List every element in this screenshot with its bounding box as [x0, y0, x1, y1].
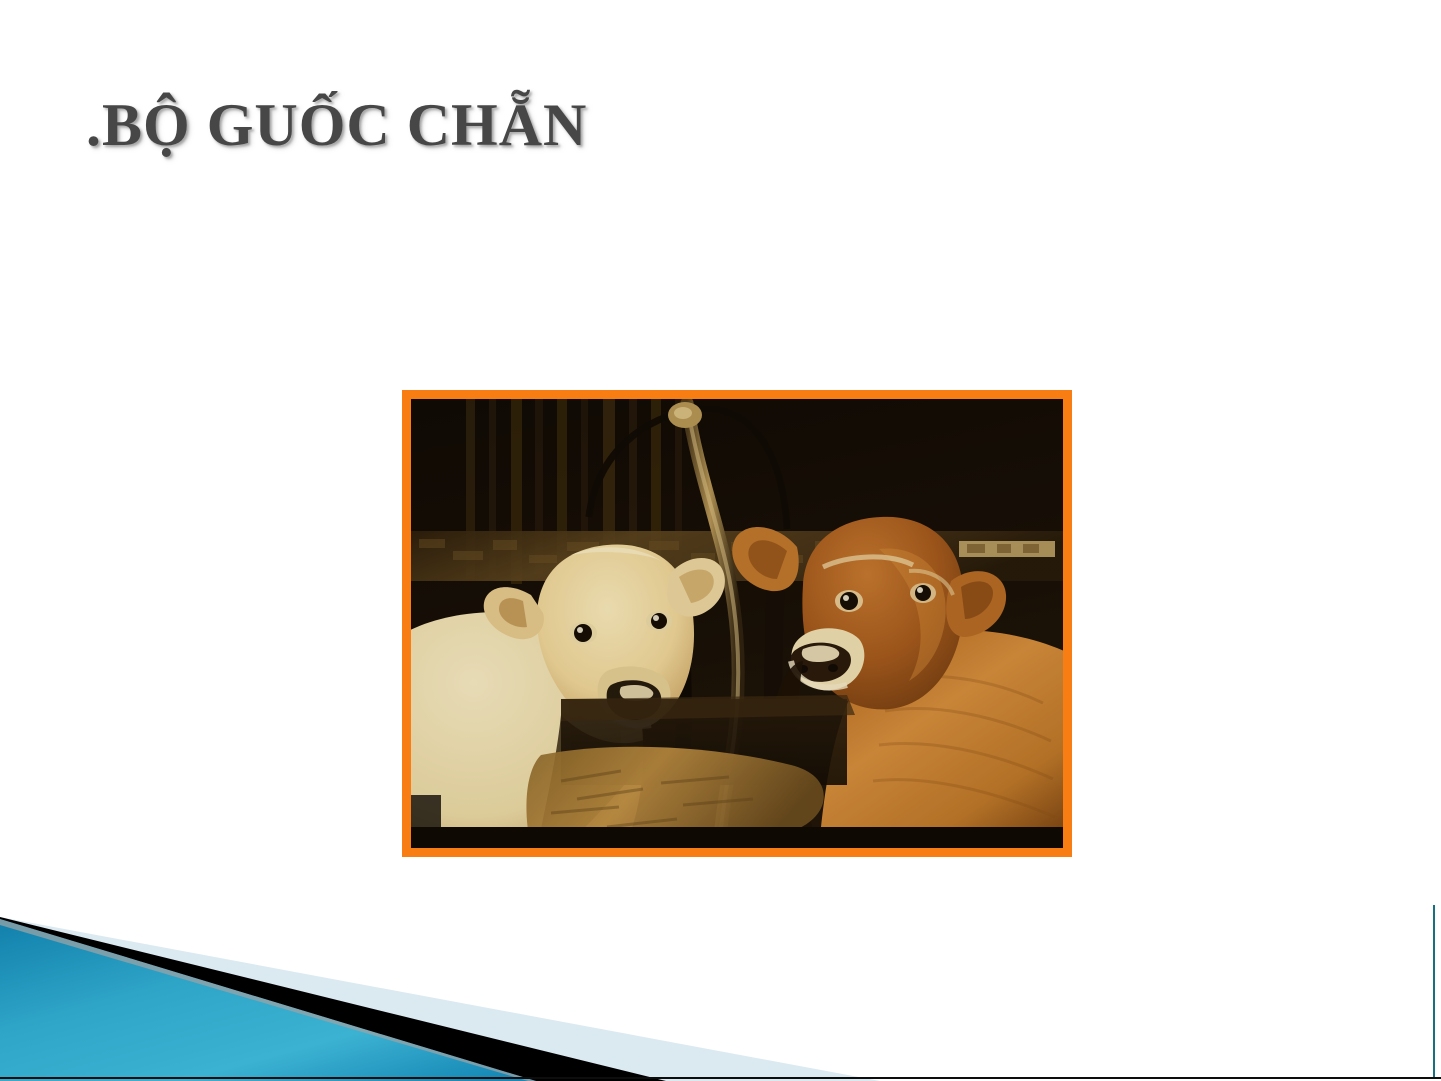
- decoration-black-triangle: [0, 917, 666, 1081]
- page-title: .BỘ GUỐC CHẴN: [86, 92, 1286, 158]
- right-edge-rule: [1433, 905, 1435, 1078]
- angles-corner-decoration: [0, 901, 1441, 1081]
- bottom-edge-rule: [0, 1077, 1441, 1079]
- decoration-teal-triangle: [0, 919, 536, 1081]
- decoration-triangles: [0, 901, 1441, 1081]
- presentation-slide: .BỘ GUỐC CHẴN: [0, 0, 1441, 1081]
- decoration-pale-blue-triangle: [0, 917, 880, 1081]
- cow-photo: [411, 399, 1063, 848]
- decoration-edge-highlight: [0, 919, 536, 1081]
- picture-frame[interactable]: [402, 390, 1072, 857]
